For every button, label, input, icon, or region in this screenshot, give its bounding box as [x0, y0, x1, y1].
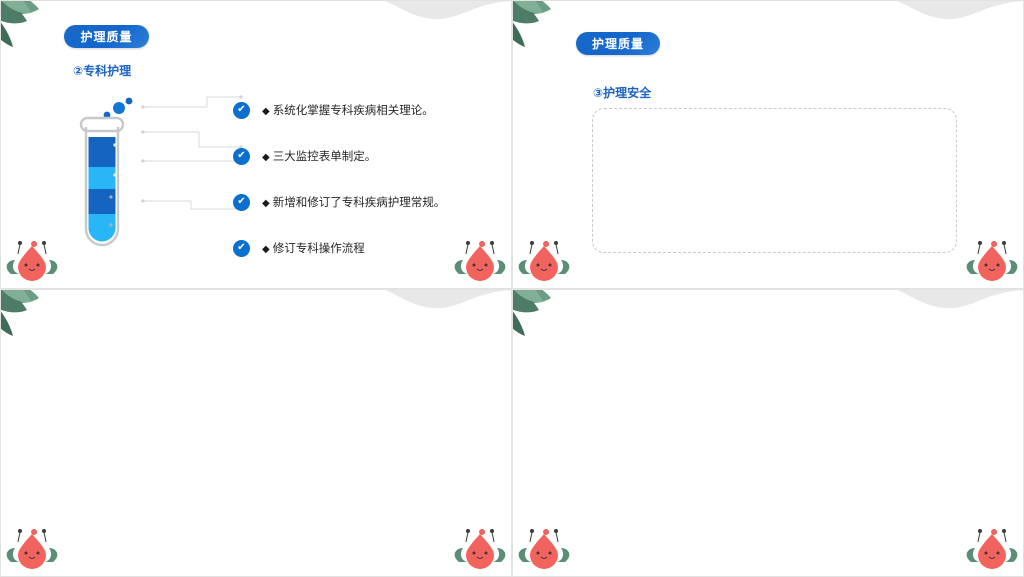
cloud-icon: [873, 0, 1023, 41]
bullet-text: ◆三大监控表单制定。: [262, 148, 376, 164]
blood-drop-mascot-icon: [517, 522, 571, 570]
cloud-icon: [873, 289, 1023, 330]
cloud-icon: [361, 0, 511, 41]
check-icon: ✔: [233, 102, 250, 119]
leaf-icon: [512, 289, 577, 348]
leaf-icon: [0, 0, 65, 59]
blood-drop-mascot-icon: [965, 234, 1019, 282]
bullet-text: ◆修订专科操作流程: [262, 240, 365, 256]
leaf-icon: [0, 289, 65, 348]
diamond-icon: ◆: [262, 152, 270, 163]
list-item[interactable]: ✔ ◆三大监控表单制定。: [233, 133, 495, 179]
list-item[interactable]: ✔ ◆新增和修订了专科疾病护理常规。: [233, 179, 495, 225]
test-tube-icon: [73, 97, 149, 255]
slide-nursing-quality-safety[interactable]: 护理质量 ③护理安全 ◆ 强化安全防范意识。 ◆ 注重入院安全教育和重点患儿管理…: [512, 0, 1024, 289]
diamond-icon: ◆: [262, 198, 270, 209]
blood-drop-mascot-icon: [517, 234, 571, 282]
subheading-specialty-nursing: ②专科护理: [73, 62, 131, 79]
bullet-label: 修订专科操作流程: [273, 243, 365, 255]
check-icon: ✔: [233, 194, 250, 211]
blood-drop-mascot-icon: [965, 522, 1019, 570]
cloud-icon: [361, 289, 511, 330]
bullet-text: ◆新增和修订了专科疾病护理常规。: [262, 194, 445, 210]
bullet-text: ◆系统化掌握专科疾病相关理论。: [262, 102, 434, 118]
bullet-list-specialty: ✔ ◆系统化掌握专科疾病相关理论。 ✔ ◆三大监控表单制定。 ✔ ◆新增和修订了…: [233, 87, 495, 271]
check-icon: ✔: [233, 240, 250, 257]
bullet-label: 新增和修订了专科疾病护理常规。: [273, 197, 446, 209]
bullet-label: 系统化掌握专科疾病相关理论。: [273, 105, 434, 117]
bullet-label: 三大监控表单制定。: [273, 151, 377, 163]
blood-drop-mascot-icon: [5, 234, 59, 282]
slide-nursing-quality-specialty[interactable]: 护理质量 ②专科护理: [0, 0, 512, 289]
slide-grid: 护理质量 ②专科护理: [0, 0, 1024, 577]
leaf-icon: [512, 0, 577, 59]
content-panel: [592, 108, 957, 253]
blood-drop-mascot-icon: [453, 522, 507, 570]
slide-section-03[interactable]: 03 规范化培训 请输入文本，请根据具体情况进行文本的修改请输入文本请根据具体情…: [0, 289, 512, 577]
subheading-nursing-safety: ③护理安全: [593, 84, 651, 101]
badge-nursing-quality[interactable]: 护理质量: [64, 25, 149, 48]
slide-standardized-training-levels[interactable]: 规范化培训 不同层次 根据能级不同选择不同的内容 低年资侧重基础，高年资侧重专科…: [512, 289, 1024, 577]
blood-drop-mascot-icon: [5, 522, 59, 570]
diamond-icon: ◆: [262, 106, 270, 117]
diamond-icon: ◆: [262, 244, 270, 255]
badge-nursing-quality[interactable]: 护理质量: [576, 32, 660, 55]
check-icon: ✔: [233, 148, 250, 165]
list-item[interactable]: ✔ ◆系统化掌握专科疾病相关理论。: [233, 87, 495, 133]
list-item[interactable]: ✔ ◆修订专科操作流程: [233, 225, 495, 271]
